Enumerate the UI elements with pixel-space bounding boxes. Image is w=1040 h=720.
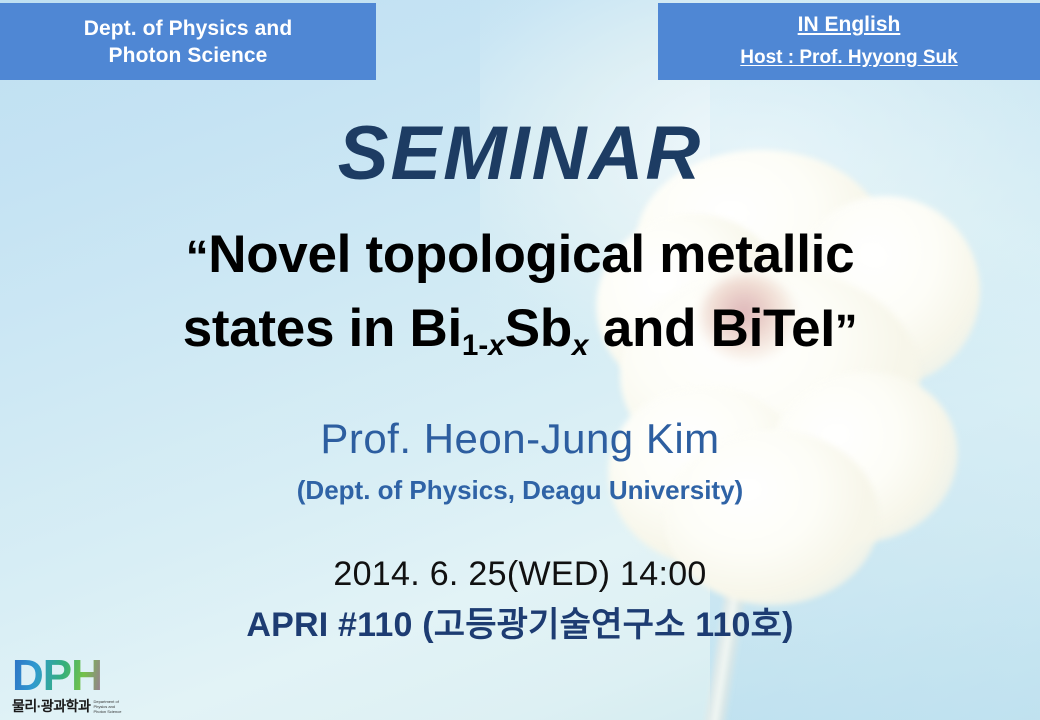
speaker-affiliation: (Dept. of Physics, Deagu University) <box>0 473 1040 507</box>
host-name: Host : Prof. Hyyong Suk <box>740 46 957 70</box>
event-datetime: 2014. 6. 25(WED) 14:00 <box>0 553 1040 595</box>
dph-logo-subtitle-english: Department of Physics and Photon Science <box>93 699 121 714</box>
dph-logo-subtitle: 물리·광과학과 Department of Physics and Photon… <box>12 699 134 714</box>
dph-logo-subtitle-korean: 물리·광과학과 <box>12 699 90 714</box>
talk-title-line-2: states in Bi1-xSbx and BiTeI” <box>0 298 1040 368</box>
subscript-x: x <box>572 329 589 362</box>
open-quote: “ <box>186 231 209 282</box>
seminar-poster: Dept. of Physics and Photon Science IN E… <box>0 0 1040 720</box>
seminar-heading: SEMINAR <box>0 112 1040 196</box>
dph-logo: DPH 물리·광과학과 Department of Physics and Ph… <box>12 654 134 716</box>
event-venue: APRI #110 (고등광기술연구소 110호) <box>0 603 1040 647</box>
language-host-banner: IN English Host : Prof. Hyyong Suk <box>658 3 1040 80</box>
department-banner-line-2: Photon Science <box>109 42 268 69</box>
subscript-variable-x: x <box>572 329 589 362</box>
talk-title-text-1: Novel topological metallic <box>208 225 854 284</box>
dph-logo-letters: DPH <box>12 654 134 698</box>
department-banner-line-1: Dept. of Physics and <box>84 15 293 42</box>
department-banner: Dept. of Physics and Photon Science <box>0 3 376 80</box>
talk-title-text-2b: Sb <box>505 299 572 358</box>
subscript-variable-x: x <box>488 329 505 362</box>
talk-title-line-1: “Novel topological metallic <box>0 224 1040 288</box>
language-note: IN English <box>798 13 901 37</box>
close-quote: ” <box>835 305 858 356</box>
subscript-prefix: 1- <box>462 329 488 362</box>
talk-title-text-2a: states in Bi <box>183 299 462 358</box>
speaker-name: Prof. Heon-Jung Kim <box>0 414 1040 464</box>
talk-title-text-2c: and BiTeI <box>588 299 834 358</box>
subscript-one-minus-x: 1-x <box>462 329 505 362</box>
